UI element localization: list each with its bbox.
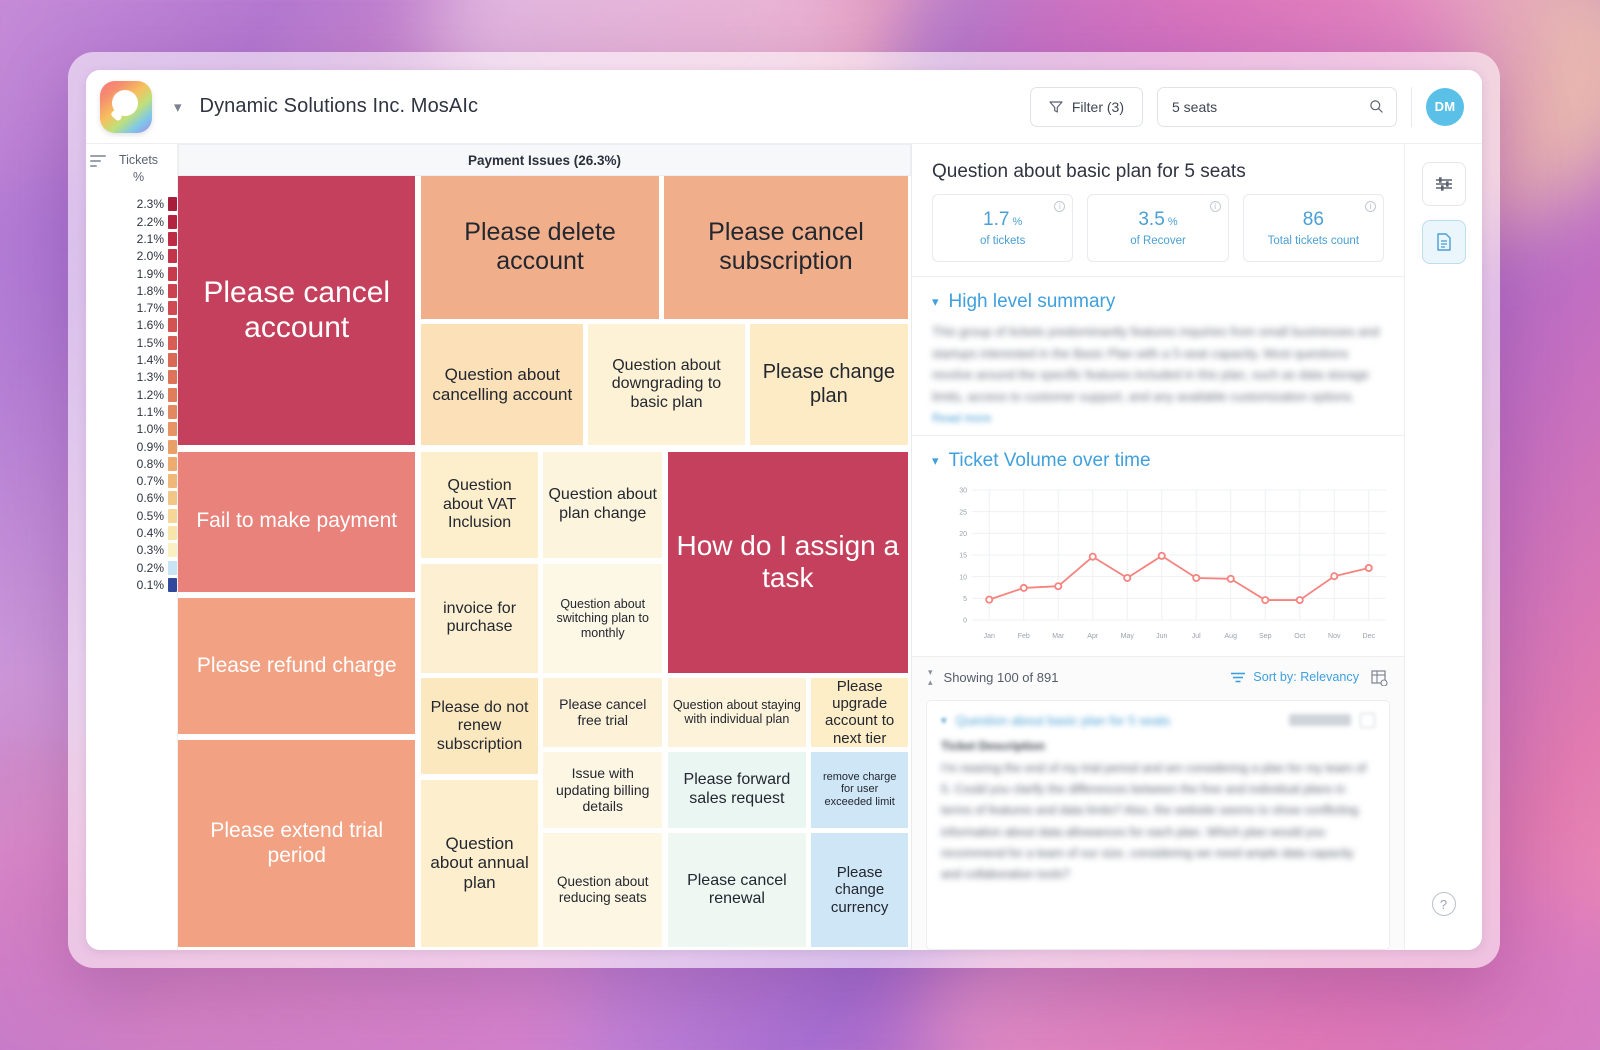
- data-point[interactable]: [1331, 573, 1337, 579]
- treemap-tile[interactable]: Please forward sales request: [668, 752, 806, 828]
- treemap-tile[interactable]: Question about plan change: [543, 452, 662, 559]
- x-tick-label: Feb: [1018, 633, 1030, 640]
- legend-item-label: 2.1%: [137, 232, 164, 246]
- chevron-down-icon[interactable]: ▾: [941, 714, 947, 727]
- summary-section: ▾ High level summary This group of ticke…: [912, 276, 1404, 435]
- legend-color-swatch: [168, 422, 177, 436]
- legend-color-swatch: [168, 491, 177, 505]
- legend-item-label: 1.9%: [137, 267, 164, 281]
- legend-item-label: 2.0%: [137, 249, 164, 263]
- sort-icon: [1231, 672, 1245, 683]
- legend-item[interactable]: 0.7%: [100, 473, 177, 490]
- header-divider: [1411, 87, 1412, 127]
- legend-scale: 2.3%2.2%2.1%2.0%1.9%1.8%1.7%1.6%1.5%1.4%…: [100, 196, 177, 594]
- legend-item-label: 1.7%: [137, 301, 164, 315]
- treemap-tile[interactable]: Please refund charge: [178, 598, 415, 734]
- volume-section: ▾ Ticket Volume over time 051015202530Ja…: [912, 435, 1404, 656]
- treemap-tile[interactable]: Question about staying with individual p…: [668, 678, 806, 746]
- legend-item[interactable]: 0.8%: [100, 455, 177, 472]
- legend-item[interactable]: 0.6%: [100, 490, 177, 507]
- legend-color-swatch: [168, 232, 177, 246]
- app-window: ▾ Dynamic Solutions Inc. MosAIc Filter (…: [86, 70, 1482, 950]
- list-toolbar: ▾▴ Showing 100 of 891 Sort by: Relevancy: [912, 657, 1404, 696]
- legend-color-swatch: [168, 284, 177, 298]
- legend-item[interactable]: 1.6%: [100, 317, 177, 334]
- line-series: [989, 555, 1369, 599]
- legend-color-swatch: [168, 526, 177, 540]
- treemap-tile[interactable]: Question about cancelling account: [421, 324, 583, 446]
- legend-item-label: 0.2%: [137, 561, 164, 575]
- legend-item-label: 1.8%: [137, 284, 164, 298]
- treemap-tile[interactable]: invoice for purchase: [421, 564, 537, 673]
- data-point[interactable]: [1090, 553, 1096, 559]
- info-icon[interactable]: i: [1054, 201, 1065, 212]
- legend-item-label: 0.3%: [137, 543, 164, 557]
- chevron-down-icon[interactable]: ▾: [932, 294, 939, 310]
- info-icon[interactable]: i: [1365, 201, 1376, 212]
- treemap-tile[interactable]: Please extend trial period: [178, 740, 415, 947]
- legend-item-label: 0.9%: [137, 440, 164, 454]
- y-tick-label: 15: [959, 552, 967, 559]
- legend-color-swatch: [168, 440, 177, 454]
- app-window-frame: ▾ Dynamic Solutions Inc. MosAIc Filter (…: [68, 52, 1500, 968]
- ticket-description-body: I'm nearing the end of my trial period a…: [941, 758, 1375, 886]
- legend-item-label: 1.0%: [137, 422, 164, 436]
- document-icon[interactable]: [1422, 220, 1466, 264]
- search-input[interactable]: [1172, 99, 1369, 115]
- legend-item-label: 1.3%: [137, 370, 164, 384]
- legend-color-swatch: [168, 353, 177, 367]
- app-body: Tickets% 2.3%2.2%2.1%2.0%1.9%1.8%1.7%1.6…: [86, 144, 1482, 950]
- search-box[interactable]: [1157, 87, 1397, 127]
- filter-button[interactable]: Filter (3): [1030, 87, 1143, 127]
- legend-color-swatch: [168, 561, 177, 575]
- y-tick-label: 5: [963, 596, 967, 603]
- legend-item[interactable]: 0.1%: [100, 576, 177, 593]
- legend-color-swatch: [168, 370, 177, 384]
- sort-by-control[interactable]: Sort by: Relevancy: [1231, 670, 1359, 684]
- legend-item[interactable]: 0.9%: [100, 438, 177, 455]
- summary-heading: High level summary: [949, 291, 1116, 313]
- table-export-icon[interactable]: [1371, 669, 1388, 686]
- search-icon[interactable]: [1369, 99, 1384, 114]
- kpi-card: i1.7 %of tickets: [932, 194, 1073, 262]
- legend-panel: Tickets% 2.3%2.2%2.1%2.0%1.9%1.8%1.7%1.6…: [86, 144, 178, 950]
- treemap-tile[interactable]: Question about annual plan: [421, 780, 537, 947]
- legend-item[interactable]: 1.1%: [100, 403, 177, 420]
- detail-title: Question about basic plan for 5 seats: [912, 144, 1404, 194]
- legend-item-label: 1.1%: [137, 405, 164, 419]
- volume-heading: Ticket Volume over time: [949, 450, 1151, 472]
- treemap-tile[interactable]: Please change currency: [811, 833, 908, 947]
- y-tick-label: 10: [959, 574, 967, 581]
- data-point[interactable]: [1297, 597, 1303, 603]
- treemap-tile[interactable]: Please change plan: [750, 324, 908, 446]
- ticket-description-label: Ticket Description: [941, 739, 1375, 753]
- x-tick-label: Nov: [1328, 633, 1341, 640]
- legend-item-label: 1.5%: [137, 336, 164, 350]
- treemap[interactable]: Please cancel accountPlease delete accou…: [178, 176, 911, 950]
- treemap-tile[interactable]: Please cancel free trial: [543, 678, 662, 746]
- legend-item-label: 2.3%: [137, 197, 164, 211]
- legend-item[interactable]: 2.0%: [100, 248, 177, 265]
- legend-color-swatch: [168, 215, 177, 229]
- x-tick-label: May: [1121, 633, 1135, 640]
- legend-item-label: 1.6%: [137, 318, 164, 332]
- kpi-row: i1.7 %of ticketsi3.5 %of Recoveri86Total…: [912, 194, 1404, 276]
- info-icon[interactable]: i: [1210, 201, 1221, 212]
- data-point[interactable]: [1193, 574, 1199, 580]
- x-tick-label: Mar: [1052, 633, 1065, 640]
- workspace-chevron-down-icon[interactable]: ▾: [174, 98, 182, 116]
- legend-color-swatch: [168, 249, 177, 263]
- ticket-list-item[interactable]: ▾ Question about basic plan for 5 seats …: [926, 700, 1390, 950]
- y-tick-label: 30: [959, 487, 967, 494]
- treemap-tile[interactable]: Please delete account: [421, 176, 658, 319]
- kpi-card: i86Total tickets count: [1243, 194, 1384, 262]
- data-point[interactable]: [986, 596, 992, 602]
- app-logo-icon: [100, 81, 152, 133]
- legend-item[interactable]: 0.2%: [100, 559, 177, 576]
- data-point[interactable]: [1159, 552, 1165, 558]
- kpi-card: i3.5 %of Recover: [1087, 194, 1228, 262]
- legend-item[interactable]: 1.7%: [100, 300, 177, 317]
- read-more-link[interactable]: Read more: [932, 411, 1384, 425]
- legend-item-label: 0.4%: [137, 526, 164, 540]
- chevron-down-icon[interactable]: ▾: [932, 453, 939, 469]
- legend-color-swatch: [168, 388, 177, 402]
- legend-item[interactable]: 0.5%: [100, 507, 177, 524]
- legend-item[interactable]: 1.8%: [100, 282, 177, 299]
- treemap-panel: Payment Issues (26.3%) Please cancel acc…: [178, 144, 912, 950]
- kpi-value: 86: [1303, 209, 1324, 231]
- ticket-title[interactable]: Question about basic plan for 5 seats: [956, 713, 1171, 728]
- page-title: Dynamic Solutions Inc. MosAIc: [200, 95, 479, 118]
- treemap-tile[interactable]: Please cancel renewal: [668, 833, 806, 947]
- x-tick-label: Sep: [1259, 633, 1272, 640]
- detail-panel: Question about basic plan for 5 seats i1…: [912, 144, 1404, 950]
- y-tick-label: 20: [959, 531, 967, 538]
- legend-item-label: 0.7%: [137, 474, 164, 488]
- ticket-list-section: ▾▴ Showing 100 of 891 Sort by: Relevancy: [912, 656, 1404, 950]
- legend-color-swatch: [168, 474, 177, 488]
- legend-item[interactable]: 2.2%: [100, 213, 177, 230]
- legend-item[interactable]: 1.4%: [100, 351, 177, 368]
- showing-count: Showing 100 of 891: [944, 670, 1059, 685]
- kpi-unit: %: [1009, 216, 1022, 228]
- treemap-tile[interactable]: Please cancel subscription: [664, 176, 908, 319]
- x-tick-label: Aug: [1225, 633, 1238, 640]
- legend-color-swatch: [168, 543, 177, 557]
- legend-color-swatch: [168, 457, 177, 471]
- legend-color-swatch: [168, 301, 177, 315]
- y-tick-label: 0: [963, 617, 967, 624]
- kpi-value: 1.7 %: [983, 209, 1022, 231]
- data-point[interactable]: [1262, 597, 1268, 603]
- x-tick-label: Jun: [1156, 633, 1167, 640]
- kpi-value: 3.5 %: [1138, 209, 1177, 231]
- treemap-tile[interactable]: Fail to make payment: [178, 452, 415, 592]
- right-rail: ?: [1404, 144, 1482, 950]
- data-point[interactable]: [1228, 575, 1234, 581]
- legend-item[interactable]: 0.4%: [100, 524, 177, 541]
- legend-item-label: 1.2%: [137, 388, 164, 402]
- summary-header[interactable]: ▾ High level summary: [932, 291, 1384, 313]
- funnel-icon: [1049, 100, 1063, 114]
- legend-item[interactable]: 1.9%: [100, 265, 177, 282]
- y-tick-label: 25: [959, 509, 967, 516]
- kpi-label: of Recover: [1130, 235, 1186, 247]
- legend-item[interactable]: 0.3%: [100, 542, 177, 559]
- kpi-label: of tickets: [980, 235, 1025, 247]
- data-point[interactable]: [1366, 565, 1372, 571]
- legend-item[interactable]: 2.3%: [100, 196, 177, 213]
- treemap-tile[interactable]: Question about switching plan to monthly: [543, 564, 662, 673]
- legend-color-swatch: [168, 336, 177, 350]
- treemap-tile[interactable]: Question about downgrading to basic plan: [588, 324, 744, 446]
- legend-color-swatch: [168, 318, 177, 332]
- legend-item-label: 0.6%: [137, 491, 164, 505]
- sliders-icon[interactable]: [1422, 162, 1466, 206]
- treemap-tile[interactable]: How do I assign a task: [668, 452, 908, 673]
- data-point[interactable]: [1055, 583, 1061, 589]
- treemap-tile[interactable]: Please do not renew subscription: [421, 678, 537, 774]
- legend-item-label: 2.2%: [137, 215, 164, 229]
- data-point[interactable]: [1124, 574, 1130, 580]
- legend-item-label: 1.4%: [137, 353, 164, 367]
- sort-by-label: Sort by: Relevancy: [1253, 670, 1359, 684]
- app-header: ▾ Dynamic Solutions Inc. MosAIc Filter (…: [86, 70, 1482, 144]
- data-point[interactable]: [1021, 584, 1027, 590]
- legend-title: Tickets%: [100, 152, 177, 186]
- x-tick-label: Dec: [1363, 633, 1376, 640]
- legend-item[interactable]: 1.3%: [100, 369, 177, 386]
- treemap-tile[interactable]: remove charge for user exceeded limit: [811, 752, 908, 828]
- legend-item[interactable]: 2.1%: [100, 230, 177, 247]
- kpi-unit: %: [1165, 216, 1178, 228]
- status-badge: [1289, 714, 1351, 726]
- x-tick-label: Jan: [984, 633, 995, 640]
- legend-item[interactable]: 1.5%: [100, 334, 177, 351]
- legend-item-label: 0.5%: [137, 509, 164, 523]
- treemap-tile[interactable]: Please cancel account: [178, 176, 415, 445]
- legend-color-swatch: [168, 197, 177, 211]
- header-controls: Filter (3) DM: [1030, 87, 1464, 127]
- expand-collapse-icon[interactable]: ▾▴: [928, 667, 933, 688]
- filter-button-label: Filter (3): [1072, 99, 1124, 115]
- legend-item-label: 0.1%: [137, 578, 164, 592]
- legend-color-swatch: [168, 578, 177, 592]
- document-icon[interactable]: [1360, 713, 1375, 728]
- legend-toggle-icon[interactable]: [90, 152, 110, 170]
- treemap-group-header: Payment Issues (26.3%): [178, 144, 911, 176]
- x-tick-label: Oct: [1294, 633, 1305, 640]
- legend-item[interactable]: 1.2%: [100, 386, 177, 403]
- legend-color-swatch: [168, 509, 177, 523]
- treemap-tile[interactable]: Issue with updating billing details: [543, 752, 662, 828]
- avatar[interactable]: DM: [1426, 88, 1464, 126]
- treemap-tile[interactable]: Question about VAT Inclusion: [421, 452, 537, 559]
- x-tick-label: Apr: [1087, 633, 1099, 640]
- legend-item[interactable]: 1.0%: [100, 421, 177, 438]
- kpi-label: Total tickets count: [1268, 235, 1359, 247]
- legend-color-swatch: [168, 267, 177, 281]
- summary-body: This group of tickets predominantly feat…: [932, 322, 1384, 409]
- help-icon[interactable]: ?: [1432, 892, 1456, 916]
- treemap-tile[interactable]: Please upgrade account to next tier: [811, 678, 908, 746]
- treemap-tile[interactable]: Question about reducing seats: [543, 833, 662, 947]
- volume-header[interactable]: ▾ Ticket Volume over time: [932, 450, 1384, 472]
- legend-color-swatch: [168, 405, 177, 419]
- legend-item-label: 0.8%: [137, 457, 164, 471]
- ticket-volume-chart: 051015202530JanFebMarAprMayJunJulAugSepO…: [932, 472, 1384, 656]
- x-tick-label: Jul: [1192, 633, 1201, 640]
